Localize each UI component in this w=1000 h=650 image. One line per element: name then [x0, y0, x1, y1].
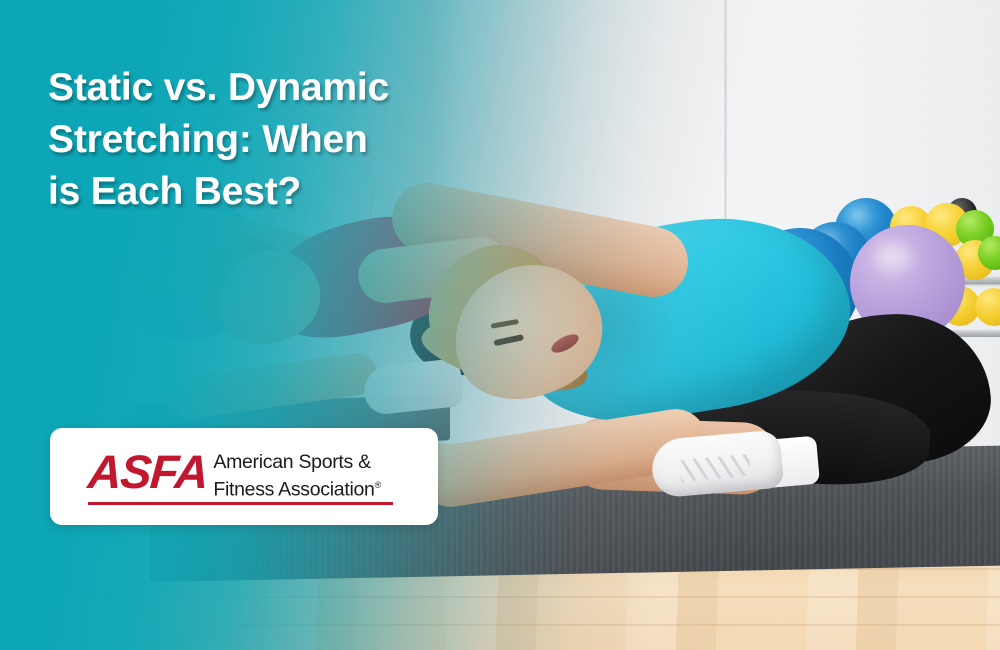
banner-title: Static vs. Dynamic Stretching: When is E… — [48, 62, 518, 218]
banner-title-line-3: is Each Best? — [48, 166, 518, 218]
asfa-name-line-2: Fitness Association® — [213, 474, 381, 502]
asfa-name-line-2-text: Fitness Association — [213, 478, 374, 500]
woman-eyebrow — [491, 319, 519, 329]
asfa-logo: ASFA American Sports & Fitness Associati… — [88, 449, 381, 505]
asfa-wordmark: ASFA — [86, 449, 209, 495]
banner-title-line-2: Stretching: When — [48, 114, 518, 166]
background-person-lower-arm — [166, 351, 380, 422]
woman-eye — [493, 334, 524, 346]
banner-title-line-1: Static vs. Dynamic — [48, 62, 518, 114]
stretching-article-banner: Static vs. Dynamic Stretching: When is E… — [0, 0, 1000, 650]
asfa-red-underline — [88, 502, 393, 505]
stretching-woman — [380, 195, 1000, 535]
asfa-logo-card[interactable]: ASFA American Sports & Fitness Associati… — [50, 428, 438, 525]
asfa-name-line-1: American Sports & — [213, 451, 381, 474]
asfa-wordmark-wrap: ASFA — [88, 449, 207, 505]
asfa-full-name: American Sports & Fitness Association® — [213, 449, 381, 502]
registered-trademark-icon: ® — [375, 480, 381, 490]
